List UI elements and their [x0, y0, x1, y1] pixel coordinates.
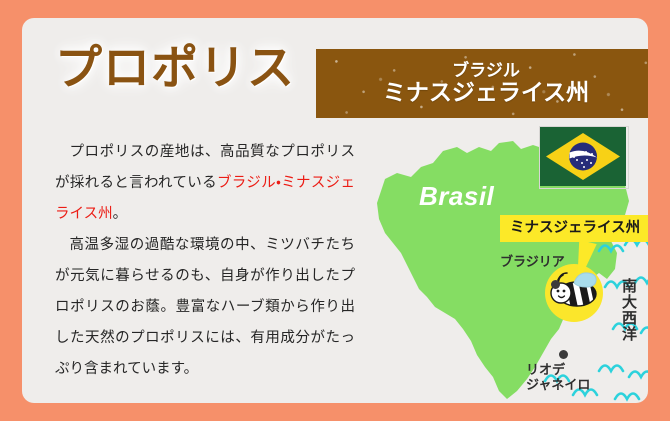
- city-label-rio: リオデ ジャネイロ: [526, 363, 590, 392]
- brazil-map: Brasil: [367, 123, 648, 403]
- paragraph-1: プロポリスの産地は、高品質なプロポリスが採れると言われているブラジル・ミナスジェ…: [55, 137, 355, 230]
- city-dot-brasilia: [551, 280, 560, 289]
- infographic-root: プロポリス ブラジル ミナスジェライス州 プロポリスの産地は、高品質なプロポリス…: [0, 0, 670, 421]
- page-title: プロポリス: [55, 46, 295, 93]
- region-banner-line1: ブラジル: [452, 61, 520, 80]
- content-panel: プロポリス ブラジル ミナスジェライス州 プロポリスの産地は、高品質なプロポリス…: [22, 18, 648, 403]
- article-body: プロポリスの産地は、高品質なプロポリスが採れると言われているブラジル・ミナスジェ…: [55, 137, 355, 385]
- city-label-rio-line2: ジャネイロ: [526, 378, 590, 393]
- state-callout: ミナスジェライス州: [500, 215, 648, 242]
- paragraph-2: 高温多湿の過酷な環境の中、ミツバチたちが元気に暮らせるのも、自身が作り出したプロ…: [55, 230, 355, 385]
- city-label-rio-line1: リオデ: [526, 363, 590, 378]
- bee-icon: [546, 266, 604, 318]
- city-dot-rio: [559, 350, 568, 359]
- paragraph-1-part2: 。: [113, 206, 128, 222]
- city-label-brasilia: ブラジリア: [500, 255, 565, 270]
- region-banner-line2: ミナスジェライス州: [383, 80, 589, 106]
- state-callout-label: ミナスジェライス州: [500, 215, 648, 242]
- ocean-label: 南大西洋: [618, 278, 639, 342]
- brazil-flag: [539, 126, 629, 189]
- region-banner: ブラジル ミナスジェライス州: [316, 49, 648, 118]
